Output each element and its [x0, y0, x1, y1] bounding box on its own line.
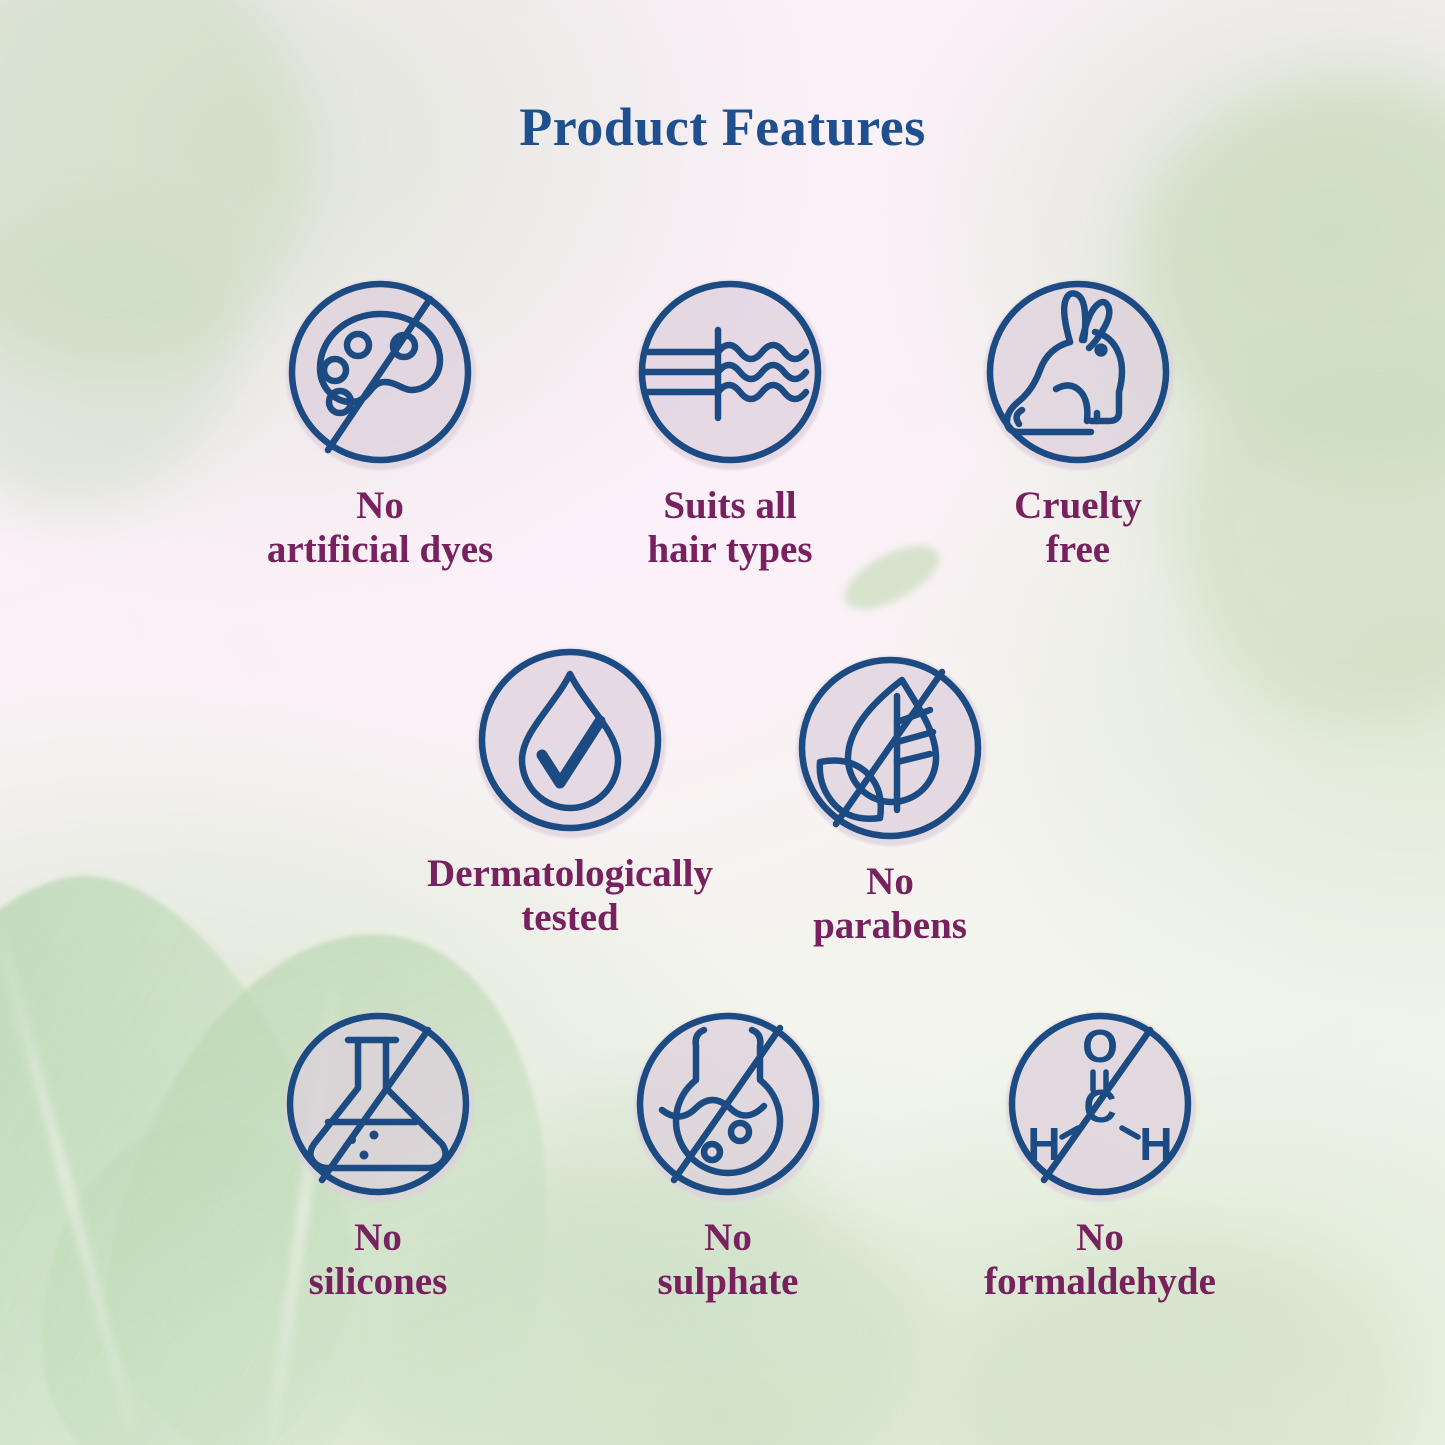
- feature-dermatologically-tested[interactable]: Dermatologically tested: [405, 640, 735, 939]
- badge-no-formaldehyde: O C H H: [1000, 1004, 1200, 1204]
- leaf-slashed-icon: [790, 648, 990, 848]
- feature-cruelty-free[interactable]: Cruelty free: [948, 272, 1208, 571]
- feature-label: Suits all hair types: [600, 484, 860, 571]
- feature-label: Dermatologically tested: [405, 852, 735, 939]
- badge-no-parabens: [790, 648, 990, 848]
- feature-no-sulphate[interactable]: No sulphate: [598, 1004, 858, 1303]
- feature-label: No formaldehyde: [950, 1216, 1250, 1303]
- badge-dermatologically-tested: [470, 640, 670, 840]
- palette-slashed-icon: [280, 272, 480, 472]
- formaldehyde-molecule-slashed-icon: O C H H: [1000, 1004, 1200, 1204]
- erlenmeyer-flask-slashed-icon: [278, 1004, 478, 1204]
- badge-cruelty-free: [978, 272, 1178, 472]
- badge-suits-all-hair-types: [630, 272, 830, 472]
- badge-no-sulphate: [628, 1004, 828, 1204]
- feature-label: No parabens: [760, 860, 1020, 947]
- page-title: Product Features: [0, 96, 1445, 158]
- feature-label: No artificial dyes: [250, 484, 510, 571]
- hair-types-icon: [630, 272, 830, 472]
- droplet-check-icon: [470, 640, 670, 840]
- feature-label: No silicones: [248, 1216, 508, 1303]
- svg-text:H: H: [1139, 1118, 1172, 1170]
- feature-no-silicones[interactable]: No silicones: [248, 1004, 508, 1303]
- rabbit-icon: [978, 272, 1178, 472]
- feature-suits-all-hair-types[interactable]: Suits all hair types: [600, 272, 860, 571]
- feature-label: Cruelty free: [948, 484, 1208, 571]
- round-flask-slashed-icon: [628, 1004, 828, 1204]
- feature-label: No sulphate: [598, 1216, 858, 1303]
- product-features-poster: Product Features No artificia: [0, 0, 1445, 1445]
- feature-no-formaldehyde[interactable]: O C H H No formaldehyde: [950, 1004, 1250, 1303]
- feature-no-artificial-dyes[interactable]: No artificial dyes: [250, 272, 510, 571]
- badge-no-artificial-dyes: [280, 272, 480, 472]
- feature-no-parabens[interactable]: No parabens: [760, 648, 1020, 947]
- badge-no-silicones: [278, 1004, 478, 1204]
- svg-text:O: O: [1082, 1020, 1118, 1072]
